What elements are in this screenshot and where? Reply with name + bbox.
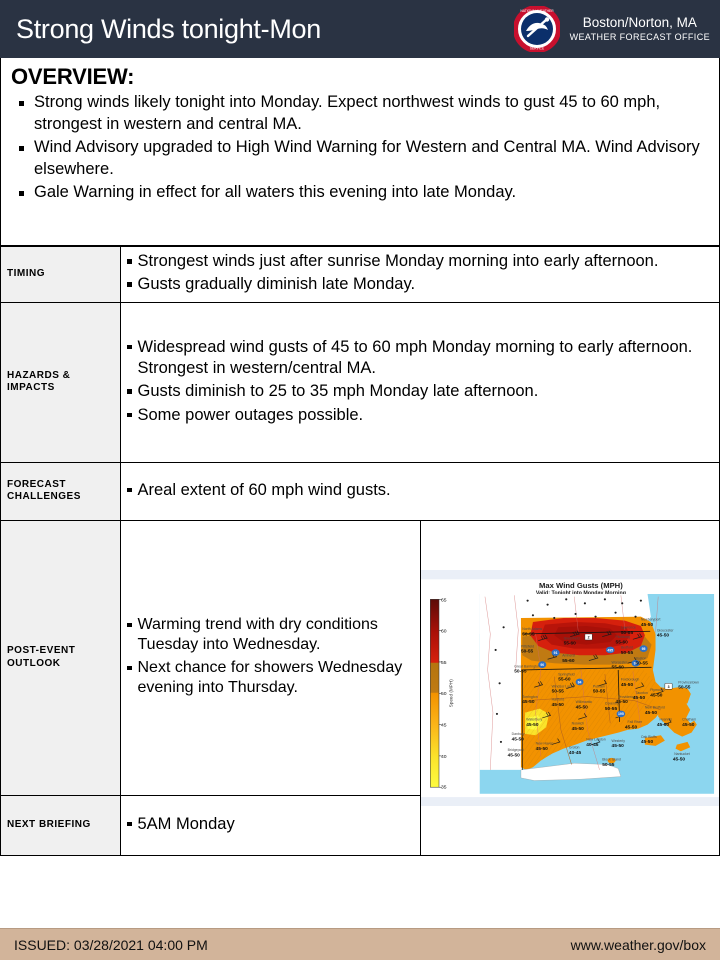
city-name: Fall River — [627, 720, 642, 724]
map-container[interactable]: Max Wind Gusts (MPH) Valid: Tonight into… — [421, 570, 720, 807]
svg-text:SERVICE: SERVICE — [529, 47, 544, 51]
nws-logo-icon: NATIONAL WEATHER SERVICE — [514, 6, 560, 52]
list-item: Wind Advisory upgraded to High Wind Warn… — [11, 137, 709, 181]
bullet-square-icon — [19, 101, 24, 106]
list-item: Some power outages possible. — [125, 405, 713, 426]
overview-heading: OVERVIEW: — [11, 64, 709, 90]
city-name: Danbury — [511, 732, 524, 736]
bullet-square-icon — [127, 488, 132, 493]
row-label-forecast-challenges: FORECAST CHALLENGES — [1, 462, 121, 520]
city-gust: 50-55 — [592, 688, 605, 694]
map-title: Max Wind Gusts (MPH) — [539, 581, 623, 590]
list-item: Areal extent of 60 mph wind gusts. — [125, 480, 713, 501]
city-gust: 45-50 — [656, 722, 669, 728]
city-gust: 55-60 — [615, 639, 628, 645]
city-name: Greenfield — [563, 636, 579, 640]
city-gust: 45-50 — [507, 752, 520, 758]
list-item: Strongest winds just after sunrise Monda… — [125, 251, 713, 272]
office-subtitle: WEATHER FORECAST OFFICE — [570, 32, 710, 43]
city-name: Putnam — [592, 684, 604, 688]
overview-bullet-list: Strong winds likely tonight into Monday.… — [11, 92, 709, 204]
city-name: Hyannis — [659, 717, 672, 721]
city-name: Foxborough — [620, 677, 639, 681]
hazards-bullet-text: Widespread wind gusts of 45 to 60 mph Mo… — [138, 337, 714, 380]
bullet-square-icon — [127, 345, 132, 350]
highway-shield-195: 195 — [616, 710, 625, 717]
overview-bullet-text: Strong winds likely tonight into Monday.… — [34, 92, 709, 136]
list-item: Gusts gradually diminish late Monday. — [125, 274, 713, 295]
city-gust: 40-45 — [586, 742, 599, 748]
city-name: Torrington — [522, 695, 537, 699]
city-gust: 45-50 — [640, 739, 653, 745]
row-body-timing: Strongest winds just after sunrise Monda… — [121, 247, 720, 303]
next-briefing-text: 5AM Monday — [138, 814, 235, 835]
row-label-timing: TIMING — [1, 247, 121, 303]
bullet-square-icon — [19, 191, 24, 196]
hazards-bullet-text: Some power outages possible. — [138, 405, 364, 426]
row-label-next-briefing: NEXT BRIEFING — [1, 795, 121, 855]
header-office-block: NATIONAL WEATHER SERVICE Boston/Norton, … — [514, 0, 710, 58]
bullet-square-icon — [127, 282, 132, 287]
bullet-square-icon — [127, 623, 132, 628]
city-gust: 45-50 — [620, 682, 633, 688]
city-name: Nantucket — [674, 752, 690, 756]
city-name: Amherst — [562, 653, 575, 657]
city-gust: 45-50 — [611, 743, 624, 749]
challenges-bullet-list: Areal extent of 60 mph wind gusts. — [125, 480, 713, 501]
city-name: Bridgeport — [507, 748, 523, 752]
city-name: New Haven — [535, 741, 553, 745]
hazards-bullet-text: Gusts diminish to 25 to 35 mph Monday la… — [138, 381, 539, 402]
city-name: Groton — [568, 745, 579, 749]
svg-text:91: 91 — [553, 651, 557, 655]
row-label-hazards: HAZARDS & IMPACTS — [1, 302, 121, 462]
city-gust: 50-55 — [551, 688, 564, 694]
city-gust: 50-55 — [520, 648, 533, 654]
city-gust: 55-60 — [563, 640, 576, 646]
svg-text:195: 195 — [618, 712, 624, 716]
svg-text:95: 95 — [641, 647, 645, 651]
city-gust: 55-60 — [611, 664, 624, 670]
city-name: Bedford — [620, 645, 632, 649]
city-name: Waterbury — [526, 717, 542, 721]
city-name: Plymouth — [650, 688, 664, 692]
list-item: 5AM Monday — [125, 814, 414, 835]
table-row: TIMING Strongest winds just after sunris… — [1, 247, 720, 303]
city-name: Norwich — [571, 721, 584, 725]
list-item: Next chance for showers Wednesday evenin… — [125, 658, 414, 699]
briefing-table: TIMING Strongest winds just after sunris… — [0, 246, 720, 856]
list-item: Gale Warning in effect for all waters th… — [11, 182, 709, 204]
svg-text:495: 495 — [607, 648, 613, 652]
city-name: Worcester — [611, 660, 628, 664]
city-gust: 50-55 — [604, 706, 617, 712]
city-name: Willimantic — [575, 700, 592, 704]
outlook-bullet-list: Warming trend with dry conditions Tuesda… — [125, 615, 414, 699]
row-body-post-event-outlook: Warming trend with dry conditions Tuesda… — [121, 520, 421, 795]
city-name: Lawrence — [620, 625, 635, 629]
outlook-bullet-text: Next chance for showers Wednesday evenin… — [138, 658, 414, 699]
bullet-square-icon — [127, 389, 132, 394]
city-name: Newburyport — [640, 617, 660, 621]
page-title: Strong Winds tonight-Mon — [0, 14, 321, 45]
table-row: POST-EVENT OUTLOOK Warming trend with dr… — [1, 520, 720, 795]
city-name: New Bedford — [644, 705, 664, 709]
city-gust: 45-50 — [624, 724, 637, 730]
city-gust: 45-50 — [551, 702, 564, 708]
bullet-square-icon — [127, 666, 132, 671]
city-gust: 45-50 — [650, 692, 663, 698]
city-gust: 55-60 — [562, 658, 575, 664]
city-gust: 50-55 — [602, 761, 615, 767]
city-gust: 45-50 — [511, 736, 524, 742]
timing-bullet-text: Strongest winds just after sunrise Monda… — [138, 251, 659, 272]
table-row: FORECAST CHALLENGES Areal extent of 60 m… — [1, 462, 720, 520]
svg-text:55: 55 — [440, 660, 446, 666]
city-name: Chatham — [682, 717, 696, 721]
svg-text:60: 60 — [440, 628, 446, 634]
city-gust: 45-50 — [522, 699, 535, 705]
bullet-square-icon — [127, 413, 132, 418]
overview-bullet-text: Gale Warning in effect for all waters th… — [34, 182, 516, 204]
svg-text:2: 2 — [587, 635, 589, 639]
table-row: HAZARDS & IMPACTS Widespread wind gusts … — [1, 302, 720, 462]
issued-timestamp: ISSUED: 03/28/2021 04:00 PM — [14, 937, 208, 953]
colorbar-axis-label: Speed (MPH) — [448, 678, 453, 707]
wind-gust-map[interactable]: Max Wind Gusts (MPH) Valid: Tonight into… — [421, 570, 720, 807]
city-gust: 50-55 — [620, 630, 633, 636]
bullet-square-icon — [127, 259, 132, 264]
svg-text:40: 40 — [440, 754, 446, 760]
city-gust: 45-50 — [682, 722, 695, 728]
list-item: Widespread wind gusts of 45 to 60 mph Mo… — [125, 337, 713, 380]
timing-bullet-text: Gusts gradually diminish late Monday. — [138, 274, 416, 295]
city-gust: 55-60 — [558, 676, 571, 682]
city-gust: 50-55 — [514, 668, 527, 674]
highway-shield-495: 495 — [605, 646, 614, 653]
timing-bullet-list: Strongest winds just after sunrise Monda… — [125, 251, 713, 296]
bullet-square-icon — [127, 822, 132, 827]
city-name: Block Island — [602, 757, 621, 761]
city-name: New London — [586, 737, 605, 741]
row-body-hazards: Widespread wind gusts of 45 to 60 mph Mo… — [121, 302, 720, 462]
city-gust: 45-50 — [575, 704, 588, 710]
challenges-bullet-text: Areal extent of 60 mph wind gusts. — [138, 480, 391, 501]
city-gust: 45-50 — [656, 632, 669, 638]
city-name: Windsor Locks — [551, 684, 574, 688]
city-gust: 45-50 — [632, 695, 645, 701]
city-name: Pittsfield — [520, 644, 533, 648]
svg-text:3: 3 — [667, 685, 669, 689]
city-name: Oak Bluffs — [640, 735, 656, 739]
city-gust: 45-50 — [535, 746, 548, 752]
city-gust: 45-50 — [526, 722, 539, 728]
svg-text:45: 45 — [440, 722, 446, 728]
bullet-square-icon — [19, 146, 24, 151]
svg-text:35: 35 — [440, 784, 446, 790]
list-item: Strong winds likely tonight into Monday.… — [11, 92, 709, 136]
city-name: Great Barrington — [514, 664, 540, 668]
city-gust: 40-45 — [568, 750, 581, 756]
city-gust: 45-50 — [640, 622, 653, 628]
svg-text:NATIONAL WEATHER: NATIONAL WEATHER — [520, 9, 554, 13]
highway-shield-3: 3 — [664, 683, 671, 689]
city-gust: 50-55 — [678, 684, 691, 690]
outlook-bullet-text: Warming trend with dry conditions Tuesda… — [138, 615, 414, 656]
city-gust: 45-50 — [571, 726, 584, 732]
next-briefing-bullet-list: 5AM Monday — [125, 814, 414, 835]
city-gust: 45-50 — [615, 699, 628, 705]
list-item: Warming trend with dry conditions Tuesda… — [125, 615, 414, 656]
list-item: Gusts diminish to 25 to 35 mph Monday la… — [125, 381, 713, 402]
highway-shield-95: 95 — [639, 645, 647, 652]
city-name: Boston — [635, 656, 646, 660]
office-name: Boston/Norton, MA — [570, 15, 710, 32]
city-name: Hartford — [551, 697, 564, 701]
svg-text:65: 65 — [440, 597, 446, 603]
city-name: Springfield — [558, 672, 574, 676]
city-gust: 50-55 — [620, 650, 633, 656]
website-link[interactable]: www.weather.gov/box — [571, 937, 706, 953]
city-name: Westerly — [611, 739, 625, 743]
overview-section: OVERVIEW: Strong winds likely tonight in… — [0, 58, 720, 246]
city-name: Taunton — [635, 691, 647, 695]
city-name: Provincetown — [678, 680, 699, 684]
highway-shield-84: 84 — [575, 678, 583, 685]
hazards-bullet-list: Widespread wind gusts of 45 to 60 mph Mo… — [125, 337, 713, 427]
office-info: Boston/Norton, MA WEATHER FORECAST OFFIC… — [570, 15, 710, 43]
city-name: North Adams — [522, 627, 542, 631]
highway-shield-2: 2 — [584, 634, 591, 640]
row-label-post-event-outlook: POST-EVENT OUTLOOK — [1, 520, 121, 795]
highway-shield-91: 91 — [551, 649, 559, 656]
svg-text:50: 50 — [440, 691, 446, 697]
city-gust: 50-55 — [635, 660, 648, 666]
city-name: Gloucester — [656, 628, 674, 632]
row-body-forecast-challenges: Areal extent of 60 mph wind gusts. — [121, 462, 720, 520]
svg-text:84: 84 — [577, 680, 581, 684]
page-footer: ISSUED: 03/28/2021 04:00 PM www.weather.… — [0, 928, 720, 960]
city-gust: 50-55 — [522, 631, 535, 637]
row-body-next-briefing: 5AM Monday — [121, 795, 421, 855]
city-gust: 45-50 — [672, 756, 685, 762]
page-header: Strong Winds tonight-Mon NATIONAL WEATHE… — [0, 0, 720, 58]
svg-text:90: 90 — [540, 663, 544, 667]
overview-bullet-text: Wind Advisory upgraded to High Wind Warn… — [34, 137, 709, 181]
city-gust: 45-50 — [644, 710, 657, 716]
wind-gust-map-panel[interactable]: Max Wind Gusts (MPH) Valid: Tonight into… — [420, 520, 720, 855]
